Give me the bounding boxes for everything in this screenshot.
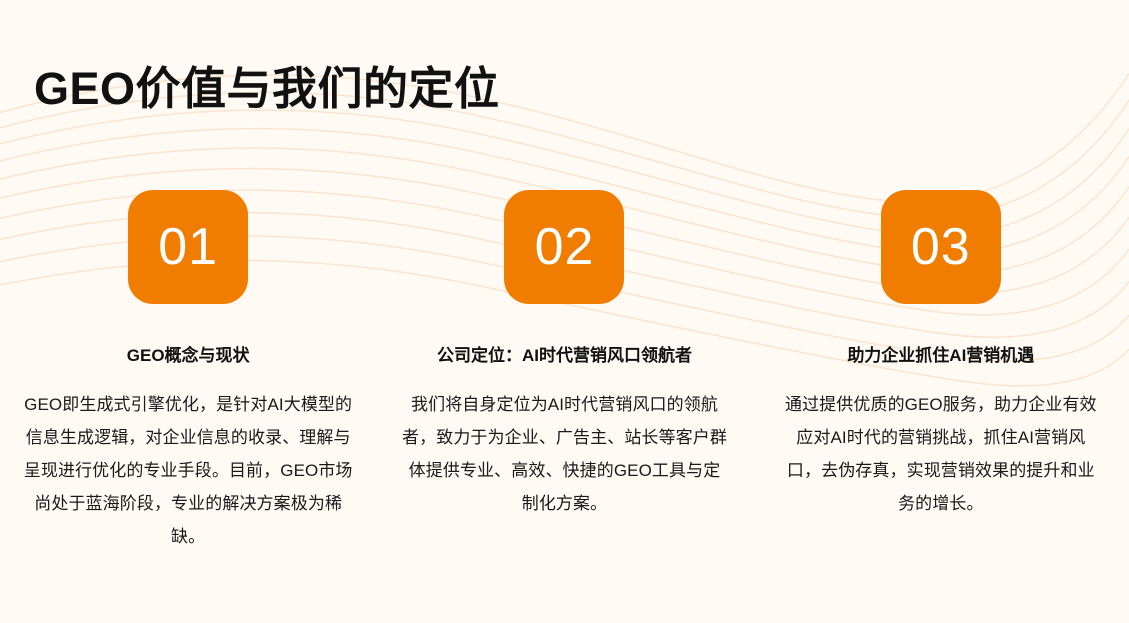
badge-number: 02 xyxy=(535,221,595,273)
column-body-text: 通过提供优质的GEO服务，助力企业有效应对AI时代的营销挑战，抓住AI营销风口，… xyxy=(782,388,1100,520)
content-column: 01 GEO概念与现状 GEO即生成式引擎优化，是针对AI大模型的信息生成逻辑，… xyxy=(0,190,376,553)
presentation-slide: GEO价值与我们的定位 01 GEO概念与现状 GEO即生成式引擎优化，是针对A… xyxy=(0,0,1129,623)
step-badge-02: 02 xyxy=(504,190,624,304)
step-badge-03: 03 xyxy=(881,190,1001,304)
column-body-text: GEO即生成式引擎优化，是针对AI大模型的信息生成逻辑，对企业信息的收录、理解与… xyxy=(18,388,358,553)
column-body-text: 我们将自身定位为AI时代营销风口的领航者，致力于为企业、广告主、站长等客户群体提… xyxy=(401,388,728,520)
content-column: 02 公司定位：AI时代营销风口领航者 我们将自身定位为AI时代营销风口的领航者… xyxy=(376,190,752,520)
page-title: GEO价值与我们的定位 xyxy=(34,62,500,115)
badge-number: 03 xyxy=(911,221,971,273)
content-columns: 01 GEO概念与现状 GEO即生成式引擎优化，是针对AI大模型的信息生成逻辑，… xyxy=(0,190,1129,553)
column-heading: GEO概念与现状 xyxy=(127,345,250,367)
badge-number: 01 xyxy=(158,221,218,273)
column-heading: 公司定位：AI时代营销风口领航者 xyxy=(437,345,692,367)
column-heading: 助力企业抓住AI营销机遇 xyxy=(847,345,1034,367)
content-column: 03 助力企业抓住AI营销机遇 通过提供优质的GEO服务，助力企业有效应对AI时… xyxy=(753,190,1129,520)
step-badge-01: 01 xyxy=(128,190,248,304)
